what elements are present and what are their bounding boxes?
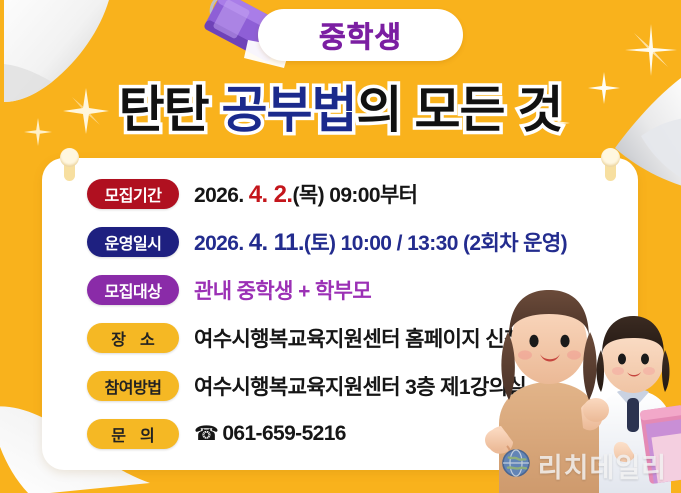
row-value-prefix: 2026. <box>194 232 249 255</box>
row-value-suffix: 여수시행복교육지원센터 홈페이지 신청 <box>194 328 523 351</box>
headline-part-2: 공부법 <box>222 82 357 138</box>
info-row: 모집기간2026. 4. 2.(목) 09:00부터 <box>42 172 638 215</box>
headline-part-3: 의 모든 것 <box>357 82 563 138</box>
sparkle-icon-4 <box>625 24 677 76</box>
row-value: 여수시행복교육지원센터 홈페이지 신청 <box>194 323 523 353</box>
row-label-pill: 장소 <box>87 323 179 353</box>
info-row: 운영일시2026. 4. 11.(토) 10:00 / 13:30 (2회차 운… <box>42 220 638 263</box>
row-value: 관내 중학생 + 학부모 <box>194 275 371 305</box>
row-value-suffix: 관내 중학생 + 학부모 <box>194 280 371 303</box>
page-title: 탄탄 공부법의 모든 것 <box>0 70 681 142</box>
row-value-suffix: 061-659-5216 <box>222 422 346 445</box>
headline-part-1: 탄탄 <box>119 82 222 138</box>
row-value-suffix: (토) 10:00 / 13:30 (2회차 운영) <box>304 232 567 255</box>
audience-badge: 중학생 <box>258 9 463 61</box>
row-label-pill: 모집기간 <box>87 179 179 209</box>
row-value-accent: 4. 11. <box>249 229 304 256</box>
row-value: ☎061-659-5216 <box>194 421 346 446</box>
row-value-prefix: 2026. <box>194 184 249 207</box>
row-value-accent: 4. 2. <box>249 181 293 208</box>
globe-icon <box>501 448 531 483</box>
watermark-text: 리치데일리 <box>538 446 667 485</box>
row-value-suffix: (목) 09:00부터 <box>293 184 418 207</box>
row-label-pill: 모집대상 <box>87 275 179 305</box>
row-label-pill: 참여방법 <box>87 371 179 401</box>
poster-canvas: 중학생 탄탄 공부법의 모든 것 모집기간2026. 4. 2.(목) 09:0… <box>0 0 681 493</box>
row-value: 2026. 4. 11.(토) 10:00 / 13:30 (2회차 운영) <box>194 227 567 257</box>
row-label-pill: 운영일시 <box>87 227 179 257</box>
phone-icon: ☎ <box>194 423 218 445</box>
audience-badge-label: 중학생 <box>319 14 402 56</box>
watermark: 리치데일리 <box>501 445 667 485</box>
row-label-pill: 문의 <box>87 419 179 449</box>
row-value: 2026. 4. 2.(목) 09:00부터 <box>194 179 417 209</box>
